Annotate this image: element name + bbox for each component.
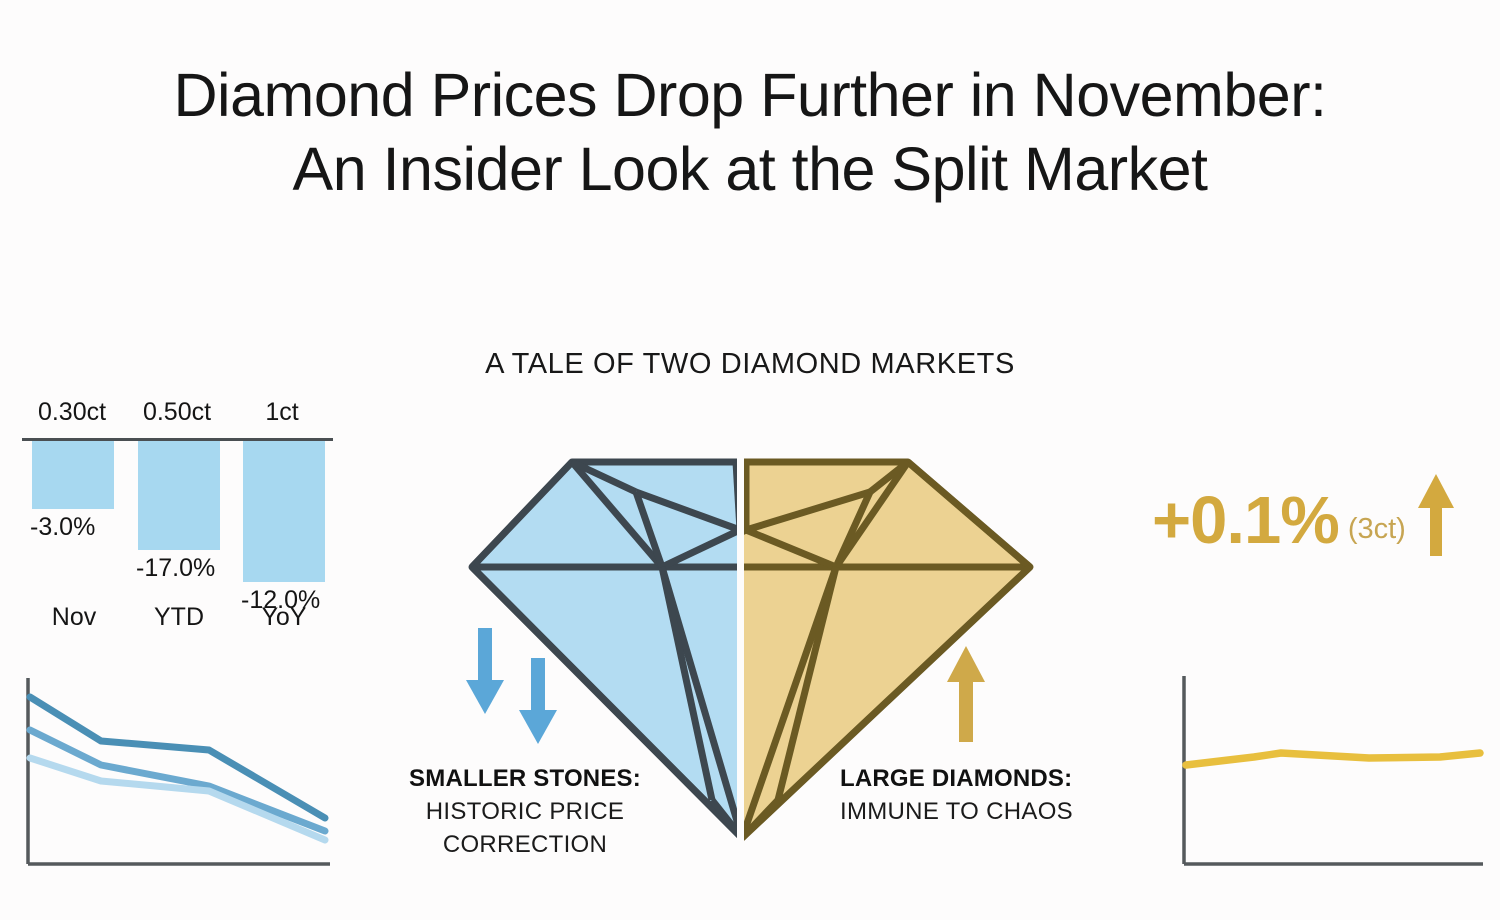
arrow-up-icon-diamond bbox=[947, 646, 985, 742]
bar-chart-x-labels: Nov YTD YoY bbox=[0, 603, 352, 637]
bar-column-ytd: -17.0% bbox=[138, 441, 220, 583]
stat-qualifier: (3ct) bbox=[1348, 513, 1406, 546]
stat-value: +0.1% bbox=[1152, 487, 1339, 554]
line-chart-declining-svg bbox=[8, 668, 353, 883]
caption-right-line2: IMMUNE TO CHAOS bbox=[840, 795, 1140, 828]
bar-xlabel-0: Nov bbox=[24, 603, 124, 632]
bar-rect-ytd bbox=[138, 441, 220, 550]
bar-chart-smaller-stones: 0.30ct 0.50ct 1ct -3.0% -17.0% -12.0% No… bbox=[0, 398, 352, 648]
caption-right-title: LARGE DIAMONDS: bbox=[840, 762, 1140, 795]
page-title: Diamond Prices Drop Further in November:… bbox=[0, 58, 1500, 206]
bar-column-yoy: -12.0% bbox=[243, 441, 325, 615]
bar-xlabel-2: YoY bbox=[234, 603, 334, 632]
caption-large-diamonds: LARGE DIAMONDS: IMMUNE TO CHAOS bbox=[840, 762, 1140, 828]
title-line-2: An Insider Look at the Split Market bbox=[0, 132, 1500, 206]
arrow-down-icon-2 bbox=[519, 658, 557, 744]
bar-header-1: 0.50ct bbox=[127, 398, 227, 427]
section-heading: A TALE OF TWO DIAMOND MARKETS bbox=[0, 348, 1500, 381]
line-series-0 bbox=[30, 697, 325, 818]
arrow-down-icon-1 bbox=[466, 628, 504, 714]
bar-column-nov: -3.0% bbox=[32, 441, 114, 542]
stat-large-diamond-change: +0.1% (3ct) bbox=[1152, 470, 1500, 570]
title-line-1: Diamond Prices Drop Further in November: bbox=[0, 58, 1500, 132]
caption-left-title: SMALLER STONES: bbox=[370, 762, 680, 795]
bar-chart-carat-headers: 0.30ct 0.50ct 1ct bbox=[0, 398, 352, 432]
arrow-up-icon-stat bbox=[1414, 472, 1458, 563]
bar-value-ytd: -17.0% bbox=[136, 554, 220, 583]
line-chart-declining-prices bbox=[8, 668, 353, 883]
bar-xlabel-1: YTD bbox=[129, 603, 229, 632]
caption-left-line3: CORRECTION bbox=[370, 828, 680, 861]
diamond-center-split bbox=[737, 440, 744, 850]
line-series-2 bbox=[30, 758, 325, 840]
caption-smaller-stones: SMALLER STONES: HISTORIC PRICE CORRECTIO… bbox=[370, 762, 680, 861]
arrow-down-icon-group bbox=[466, 628, 557, 744]
arrow-up-icon-stat-svg bbox=[1414, 472, 1458, 558]
bar-header-0: 0.30ct bbox=[22, 398, 122, 427]
line-chart-flat-svg bbox=[1155, 668, 1500, 883]
caption-left-line2: HISTORIC PRICE bbox=[370, 795, 680, 828]
bar-value-nov: -3.0% bbox=[30, 513, 114, 542]
infographic-canvas: Diamond Prices Drop Further in November:… bbox=[0, 0, 1500, 920]
line-series-3ct bbox=[1186, 753, 1480, 765]
bar-header-2: 1ct bbox=[232, 398, 332, 427]
bar-rect-nov bbox=[32, 441, 114, 509]
bar-rect-yoy bbox=[243, 441, 325, 582]
line-chart-flat-large-diamonds bbox=[1155, 668, 1500, 883]
